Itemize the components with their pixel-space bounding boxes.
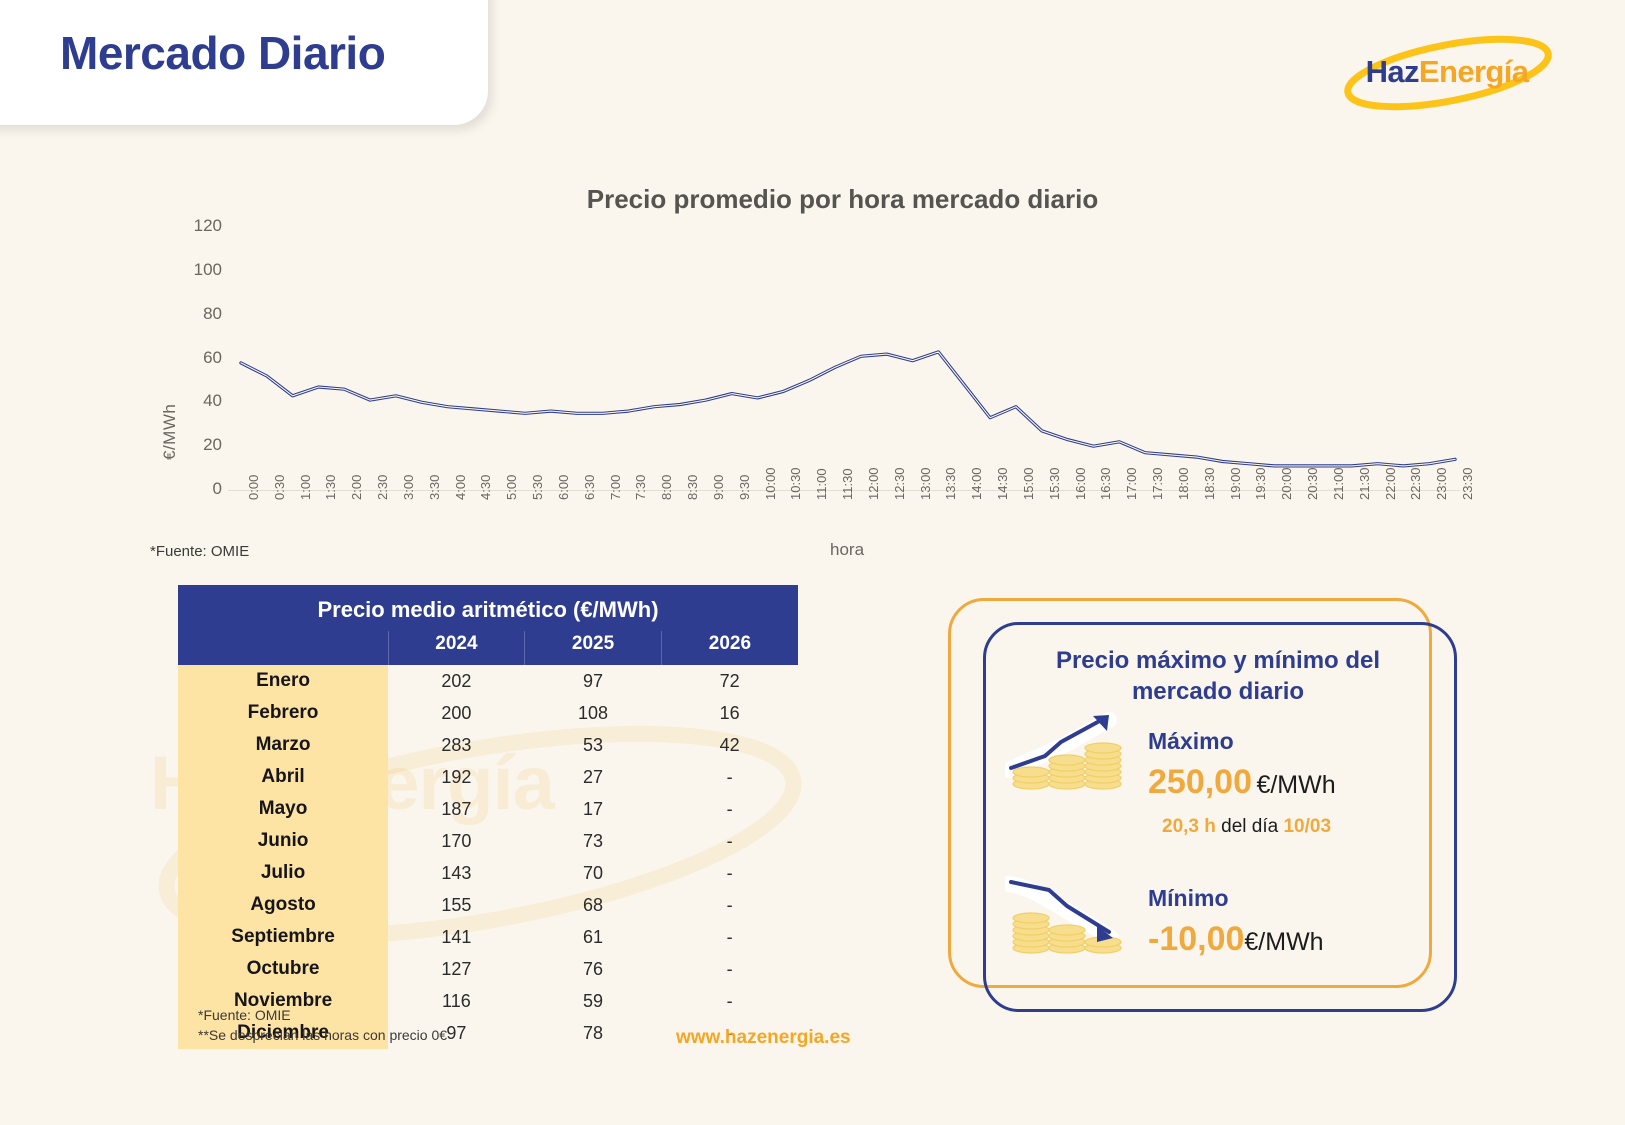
footnote-zero-price: **Se desprecian las horas con precio 0€ — [198, 1025, 447, 1045]
table-month-cell: Septiembre — [178, 921, 388, 953]
x-tick-6:00: 6:00 — [556, 475, 571, 500]
x-tick-4:30: 4:30 — [478, 475, 493, 500]
table-value-cell: - — [661, 921, 798, 953]
x-tick-8:30: 8:30 — [685, 475, 700, 500]
max-time-info: 20,3 h del día 10/03 — [1162, 816, 1336, 838]
table-row: Abril19227- — [178, 761, 798, 793]
y-tick-40: 40 — [162, 391, 222, 411]
table-value-cell: 78 — [525, 1017, 662, 1049]
x-tick-11:30: 11:30 — [840, 468, 855, 500]
x-tick-17:00: 17:00 — [1124, 467, 1139, 500]
maxmin-max-block: Máximo 250,00 €/MWh 20,3 h del día 10/03 — [1148, 728, 1336, 838]
table-value-cell: 59 — [525, 985, 662, 1017]
table-value-cell: 27 — [525, 761, 662, 793]
y-tick-100: 100 — [162, 260, 222, 280]
max-value: 250,00 — [1148, 763, 1252, 801]
min-value: -10,00 — [1148, 920, 1244, 958]
table-value-cell: 76 — [525, 953, 662, 985]
table-value-cell: 42 — [661, 729, 798, 761]
table-row: Julio14370- — [178, 857, 798, 889]
table-value-cell: - — [661, 825, 798, 857]
table-value-cell: 202 — [388, 665, 525, 697]
x-tick-7:00: 7:00 — [608, 475, 623, 500]
table-value-cell: 155 — [388, 889, 525, 921]
table-value-cell: 170 — [388, 825, 525, 857]
x-tick-0:30: 0:30 — [272, 475, 287, 500]
x-tick-13:00: 13:00 — [918, 467, 933, 500]
coins-up-arrow-icon — [1005, 712, 1135, 797]
table-month-cell: Agosto — [178, 889, 388, 921]
table-value-cell: 72 — [661, 665, 798, 697]
x-tick-9:30: 9:30 — [737, 475, 752, 500]
table-col-header-2025: 2025 — [525, 631, 662, 665]
x-tick-0:00: 0:00 — [246, 475, 261, 500]
x-tick-18:00: 18:00 — [1176, 467, 1191, 500]
table-value-cell: 73 — [525, 825, 662, 857]
table-value-cell: 17 — [525, 793, 662, 825]
table-value-cell: - — [661, 857, 798, 889]
x-tick-7:30: 7:30 — [633, 475, 648, 500]
table-month-cell: Enero — [178, 665, 388, 697]
max-hour: 20,3 h — [1162, 816, 1216, 837]
page-title: Mercado Diario — [60, 26, 385, 80]
table-value-cell: 68 — [525, 889, 662, 921]
max-day: 10/03 — [1283, 816, 1331, 837]
table-col-header-2024: 2024 — [388, 631, 525, 665]
min-label: Mínimo — [1148, 885, 1324, 912]
x-tick-4:00: 4:00 — [453, 475, 468, 500]
x-tick-15:30: 15:30 — [1047, 467, 1062, 500]
x-tick-10:00: 10:00 — [763, 467, 778, 500]
x-tick-5:00: 5:00 — [504, 475, 519, 500]
table-value-cell: - — [661, 761, 798, 793]
maxmin-card-title: Precio máximo y mínimo del mercado diari… — [1018, 645, 1418, 707]
table-row: Septiembre14161- — [178, 921, 798, 953]
table-row: Junio17073- — [178, 825, 798, 857]
price-chart: Precio promedio por hora mercado diario … — [0, 160, 1625, 560]
table-row: Agosto15568- — [178, 889, 798, 921]
y-tick-0: 0 — [162, 479, 222, 499]
max-label: Máximo — [1148, 728, 1336, 755]
table-month-cell: Mayo — [178, 793, 388, 825]
max-mid-text: del día — [1216, 816, 1284, 837]
table-month-cell: Junio — [178, 825, 388, 857]
x-tick-1:30: 1:30 — [323, 475, 338, 500]
table-value-cell: 143 — [388, 857, 525, 889]
table-month-cell: Abril — [178, 761, 388, 793]
x-tick-9:00: 9:00 — [711, 475, 726, 500]
x-tick-19:00: 19:00 — [1228, 467, 1243, 500]
x-tick-17:30: 17:30 — [1150, 467, 1165, 500]
footnote-source: *Fuente: OMIE — [198, 1005, 447, 1025]
x-tick-22:00: 22:00 — [1383, 467, 1398, 500]
table-value-cell: 53 — [525, 729, 662, 761]
maxmin-min-block: Mínimo -10,00€/MWh — [1148, 885, 1324, 959]
chart-x-axis-label: hora — [830, 540, 864, 560]
table-value-cell: 97 — [525, 665, 662, 697]
x-tick-23:30: 23:30 — [1460, 467, 1475, 500]
x-tick-12:30: 12:30 — [892, 467, 907, 500]
logo-text: HazEnergía — [1357, 54, 1537, 90]
table-value-cell: - — [661, 953, 798, 985]
table-row: Enero2029772 — [178, 665, 798, 697]
min-unit: €/MWh — [1244, 928, 1323, 956]
x-tick-3:00: 3:00 — [401, 475, 416, 500]
table-value-cell: 127 — [388, 953, 525, 985]
x-tick-15:00: 15:00 — [1021, 467, 1036, 500]
monthly-price-table: Precio medio aritmético (€/MWh) 20242025… — [178, 585, 798, 1049]
max-unit: €/MWh — [1256, 771, 1335, 799]
page-title-card: Mercado Diario — [0, 0, 488, 125]
x-tick-14:00: 14:00 — [969, 467, 984, 500]
x-tick-16:00: 16:00 — [1073, 467, 1088, 500]
table-value-cell: 200 — [388, 697, 525, 729]
table-value-cell: 283 — [388, 729, 525, 761]
table-month-cell: Octubre — [178, 953, 388, 985]
logo-text-energia: Energía — [1419, 54, 1529, 89]
table-value-cell: 187 — [388, 793, 525, 825]
table-value-cell: - — [661, 985, 798, 1017]
table-row: Marzo2835342 — [178, 729, 798, 761]
hazenergia-logo: HazEnergía — [1357, 38, 1537, 108]
x-tick-22:30: 22:30 — [1408, 467, 1423, 500]
table-month-cell: Marzo — [178, 729, 388, 761]
x-tick-3:30: 3:30 — [427, 475, 442, 500]
x-tick-21:30: 21:30 — [1357, 467, 1372, 500]
x-tick-6:30: 6:30 — [582, 475, 597, 500]
x-tick-20:30: 20:30 — [1305, 467, 1320, 500]
x-tick-14:30: 14:30 — [995, 467, 1010, 500]
x-tick-2:30: 2:30 — [375, 475, 390, 500]
x-tick-10:30: 10:30 — [788, 467, 803, 500]
table-value-cell: 70 — [525, 857, 662, 889]
chart-y-axis-ticks: 020406080100120 — [160, 160, 222, 560]
x-tick-12:00: 12:00 — [866, 467, 881, 500]
y-tick-60: 60 — [162, 348, 222, 368]
y-tick-120: 120 — [162, 216, 222, 236]
table-row: Febrero20010816 — [178, 697, 798, 729]
x-tick-21:00: 21:00 — [1331, 467, 1346, 500]
table-row: Octubre12776- — [178, 953, 798, 985]
x-tick-2:00: 2:00 — [349, 475, 364, 500]
table-value-cell: 16 — [661, 697, 798, 729]
table-value-cell: 192 — [388, 761, 525, 793]
table-month-cell: Julio — [178, 857, 388, 889]
logo-text-haz: Haz — [1366, 54, 1419, 89]
x-tick-5:30: 5:30 — [530, 475, 545, 500]
table-value-cell: 61 — [525, 921, 662, 953]
x-tick-20:00: 20:00 — [1279, 467, 1294, 500]
table-value-cell: 141 — [388, 921, 525, 953]
table-footnotes: *Fuente: OMIE **Se desprecian las horas … — [198, 1005, 447, 1046]
x-tick-16:30: 16:30 — [1098, 467, 1113, 500]
x-tick-18:30: 18:30 — [1202, 467, 1217, 500]
y-tick-80: 80 — [162, 304, 222, 324]
x-tick-23:00: 23:00 — [1434, 467, 1449, 500]
table-value-cell: - — [661, 889, 798, 921]
table-value-cell: 108 — [525, 697, 662, 729]
table-title: Precio medio aritmético (€/MWh) — [178, 585, 798, 631]
table-month-cell: Febrero — [178, 697, 388, 729]
y-tick-20: 20 — [162, 435, 222, 455]
table-col-header-2026: 2026 — [661, 631, 798, 665]
table-corner-cell — [178, 631, 388, 665]
x-tick-1:00: 1:00 — [298, 475, 313, 500]
table-value-cell: - — [661, 793, 798, 825]
coins-down-arrow-icon — [1005, 870, 1135, 955]
x-tick-19:30: 19:30 — [1253, 467, 1268, 500]
table-row: Mayo18717- — [178, 793, 798, 825]
x-tick-11:00: 11:00 — [814, 468, 829, 500]
chart-source-note: *Fuente: OMIE — [150, 543, 249, 560]
website-link[interactable]: www.hazenergia.es — [676, 1027, 851, 1049]
x-tick-13:30: 13:30 — [943, 467, 958, 500]
x-tick-8:00: 8:00 — [659, 475, 674, 500]
